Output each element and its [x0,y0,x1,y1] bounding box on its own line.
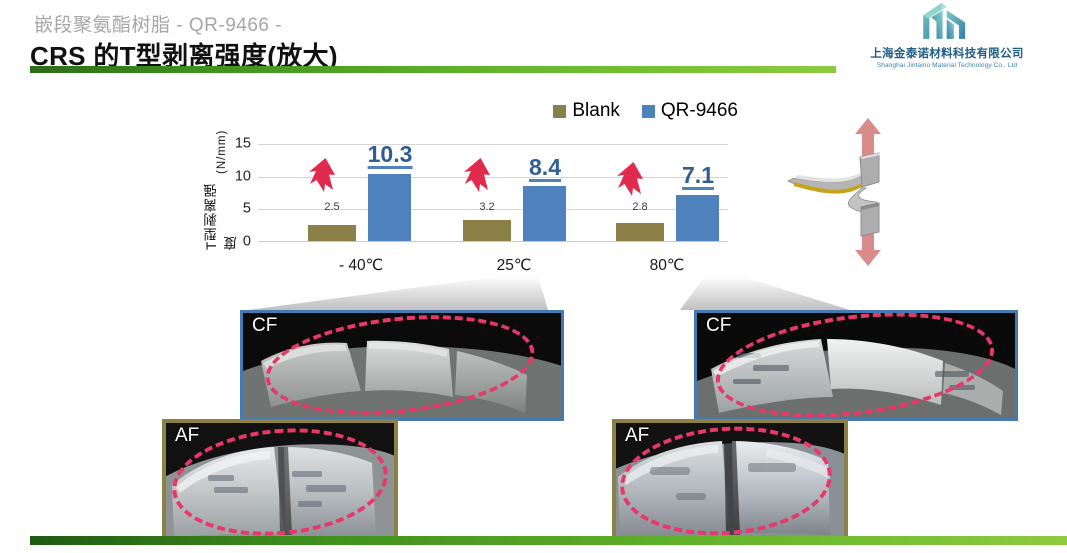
legend-label-blank: Blank [572,100,620,122]
chart-legend: Blank QR-9466 [553,100,738,122]
y-tick-15: 15 [235,136,251,152]
photo-label-af-left: AF [175,425,199,447]
photo-panel-af-left[interactable]: AF [162,419,398,542]
jintaino-logo-icon [916,2,977,44]
gridline-15 [258,144,728,145]
photo-label-cf-left: CF [252,315,277,337]
legend-swatch-qr9466 [642,105,655,118]
connector-left [248,276,548,310]
logo-company-en: Shanghai Jintaino Material Technology Co… [849,62,1045,69]
bar-blank-25 [463,220,511,241]
increase-arrow-icon-minus40 [306,158,336,202]
t-peel-test-diagram [782,112,960,272]
up-arrow-icon [855,118,881,158]
bar-blank-80 [616,223,664,241]
bar-qr9466-25 [523,186,566,241]
photo-panel-cf-right[interactable]: CF [694,310,1018,421]
page-subtitle: 嵌段聚氨酯树脂 - QR-9466 - [34,10,282,37]
chart-plot-area: 15 10 5 0 2.5 10.3 3.2 8.4 2.8 7.1 [258,144,728,242]
bar-value-blank-minus40: 2.5 [324,201,339,213]
photo-label-af-right: AF [625,425,649,447]
photo-panel-cf-left[interactable]: CF [240,310,564,421]
y-axis-title-text: T型剥离强度 [202,174,242,250]
connector-right [680,276,850,310]
y-tick-0: 0 [243,234,251,250]
bar-value-qr9466-80: 7.1 [682,163,714,190]
legend-label-qr9466: QR-9466 [661,100,738,122]
x-label-minus40: - 40℃ [339,256,383,275]
bar-value-qr9466-minus40: 10.3 [368,142,413,169]
y-axis-unit: (N/mm) [216,130,228,174]
legend-swatch-blank [553,105,566,118]
slide-root: 嵌段聚氨酯树脂 - QR-9466 - CRS 的T型剥离强度(放大) 上海金泰… [0,0,1067,553]
gridline-0 [258,241,728,242]
y-tick-10: 10 [235,168,251,184]
increase-arrow-icon-80 [614,162,644,206]
x-label-25: 25℃ [497,256,532,275]
title-underline-bar [30,66,836,73]
bar-value-qr9466-25: 8.4 [529,155,561,182]
increase-arrow-icon-25 [461,158,491,202]
logo-company-cn: 上海金泰诺材料科技有限公司 [849,45,1045,61]
bar-value-blank-25: 3.2 [479,201,494,213]
bar-blank-minus40 [308,225,356,241]
company-logo: 上海金泰诺材料科技有限公司 Shanghai Jintaino Material… [849,2,1045,69]
photo-label-cf-right: CF [706,315,731,337]
bar-qr9466-80 [676,195,719,241]
legend-item-blank: Blank [553,100,620,122]
legend-item-qr9466: QR-9466 [642,100,738,122]
footer-bar [30,536,1067,545]
photo-panel-af-right[interactable]: AF [612,419,848,542]
peel-strength-chart: Blank QR-9466 T型剥离强度 (N/mm) 15 10 5 0 [196,100,756,290]
bar-qr9466-minus40 [368,174,411,241]
y-tick-5: 5 [243,201,251,217]
x-label-80: 80℃ [650,256,685,275]
